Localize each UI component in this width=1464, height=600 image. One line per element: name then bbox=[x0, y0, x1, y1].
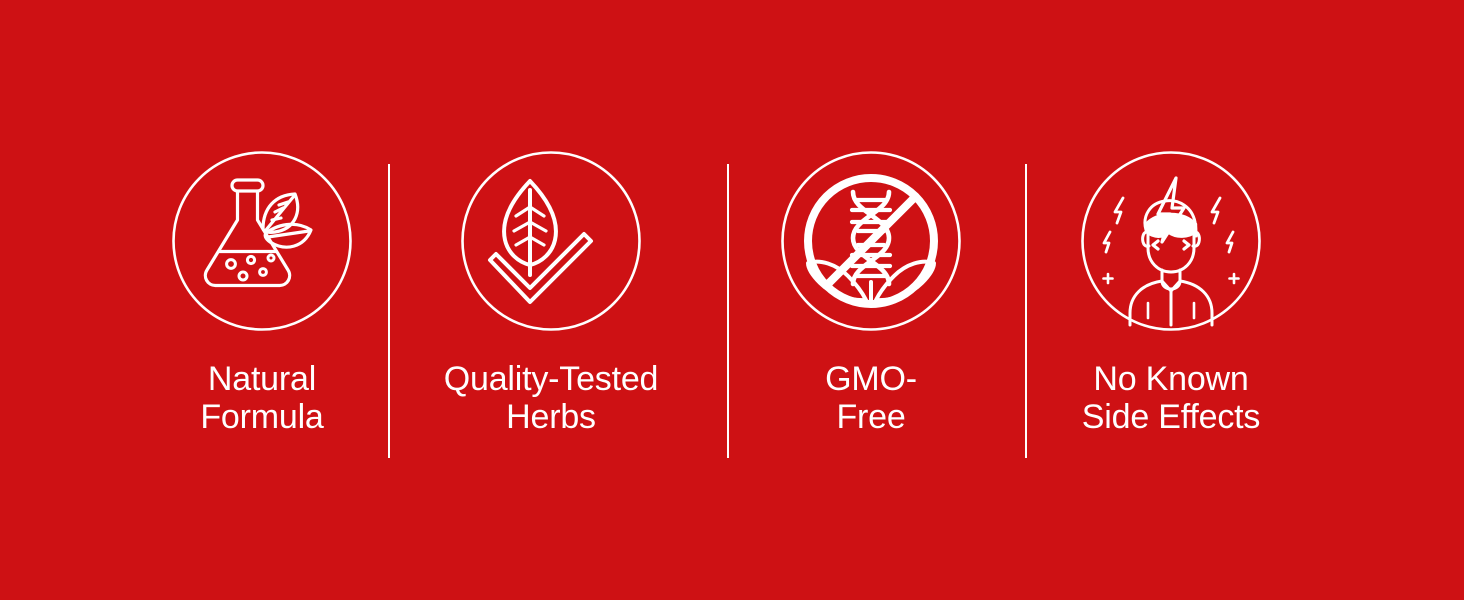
divider-1 bbox=[388, 164, 390, 458]
feature-label: GMO- Free bbox=[825, 360, 917, 436]
no-side-effects-icon bbox=[1080, 150, 1262, 332]
feature-gmo-free: GMO- Free bbox=[721, 0, 1021, 436]
feature-no-known-side-effects: No Known Side Effects bbox=[1021, 0, 1321, 436]
feature-quality-tested-herbs: Quality-Tested Herbs bbox=[381, 0, 721, 436]
flask-leaf-icon bbox=[171, 150, 353, 332]
feature-list: Natural Formula Quality-Tested Herbs bbox=[0, 0, 1464, 600]
feature-label: Quality-Tested Herbs bbox=[444, 360, 659, 436]
no-gmo-dna-icon bbox=[780, 150, 962, 332]
feature-natural-formula: Natural Formula bbox=[143, 0, 381, 436]
feature-label: Natural Formula bbox=[200, 360, 323, 436]
feature-label: No Known Side Effects bbox=[1082, 360, 1260, 436]
divider-3 bbox=[1025, 164, 1027, 458]
divider-2 bbox=[727, 164, 729, 458]
leaf-checkmark-icon bbox=[460, 150, 642, 332]
benefits-banner: Natural Formula Quality-Tested Herbs bbox=[0, 0, 1464, 600]
